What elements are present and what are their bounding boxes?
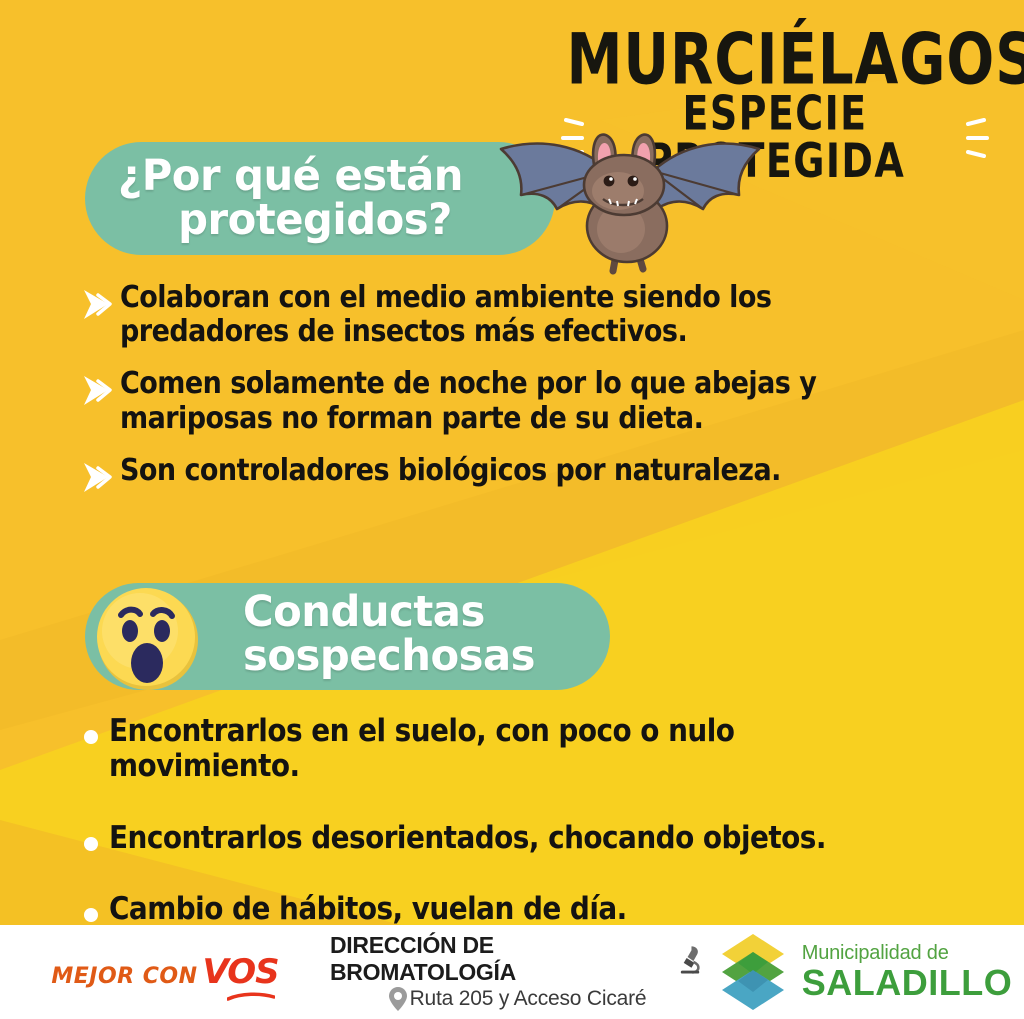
dot-bullet-icon <box>84 837 98 851</box>
chevron-arrow-icon <box>78 458 120 498</box>
mejor-con-vos-logo-icon: MEJOR CONVOS <box>51 952 278 992</box>
mejor-con-vos-accent: VOS <box>203 952 279 992</box>
bat-illustration-icon <box>477 119 767 289</box>
mejor-con-vos-prefix: MEJOR CON <box>51 964 197 989</box>
saladillo-line-1: Municipalidad de <box>802 943 1012 963</box>
footer-bar: MEJOR CONVOS DIRECCIÓN DE BROMATOLOGÍA <box>0 925 1024 1019</box>
dot-bullet-icon <box>84 730 98 744</box>
footer-center: DIRECCIÓN DE BROMATOLOGÍA Ruta 205 y Acc… <box>330 925 704 1019</box>
microscope-icon <box>675 942 704 976</box>
section-1-list: Colaboran con el medio ambiente siendo l… <box>78 281 978 498</box>
bromatologia-title-row: DIRECCIÓN DE BROMATOLOGÍA <box>330 932 704 986</box>
list-item-label: Encontrarlos desorientados, chocando obj… <box>109 821 826 856</box>
surprised-face-emoji-icon <box>93 584 201 692</box>
bromatologia-address-row: Ruta 205 y Acceso Cicaré <box>388 986 647 1012</box>
section-1-pill-line-2: protegidos? <box>178 199 463 243</box>
section-2-pill-line-2: sospechosas <box>243 635 535 679</box>
rays-right-icon <box>964 115 990 161</box>
poster-canvas: MURCIÉLAGOS ESPECIE PROTEGIDA <box>0 0 1024 1019</box>
location-pin-icon <box>388 986 408 1012</box>
list-item-label: Comen solamente de noche por lo que abej… <box>120 367 816 435</box>
footer-right: Municipalidad de SALADILLO <box>704 925 1024 1019</box>
list-item: Colaboran con el medio ambiente siendo l… <box>78 281 978 349</box>
list-item-label: Colaboran con el medio ambiente siendo l… <box>120 281 771 349</box>
saladillo-mark-icon <box>716 932 790 1012</box>
list-item: Encontrarlos en el suelo, con poco o nul… <box>78 714 1008 785</box>
list-item-label: Encontrarlos en el suelo, con poco o nul… <box>109 714 918 785</box>
list-item: Son controladores biológicos por natural… <box>78 454 978 498</box>
dot-bullet-icon <box>84 908 98 922</box>
list-item: Comen solamente de noche por lo que abej… <box>78 367 978 435</box>
poster-title: MURCIÉLAGOS <box>566 26 983 93</box>
section-2-pill-text: Conductas sospechosas <box>243 591 535 679</box>
list-item: Encontrarlos desorientados, chocando obj… <box>78 821 1008 856</box>
chevron-arrow-icon <box>78 285 120 325</box>
list-item: Cambio de hábitos, vuelan de día. <box>78 892 1008 927</box>
saladillo-wordmark: Municipalidad de SALADILLO <box>802 943 1012 1001</box>
saladillo-line-2: SALADILLO <box>802 965 1012 1001</box>
bromatologia-title: DIRECCIÓN DE BROMATOLOGÍA <box>330 932 675 986</box>
saladillo-diamonds-logo-icon: Municipalidad de SALADILLO <box>716 932 1012 1012</box>
section-1-pill-line-1: ¿Por qué están <box>118 151 463 201</box>
footer-left: MEJOR CONVOS <box>0 925 330 1019</box>
chevron-arrow-icon <box>78 371 120 411</box>
bromatologia-address: Ruta 205 y Acceso Cicaré <box>410 987 647 1011</box>
list-item-label: Son controladores biológicos por natural… <box>120 454 781 488</box>
list-item-label: Cambio de hábitos, vuelan de día. <box>109 892 627 927</box>
section-1-pill-text: ¿Por qué están protegidos? <box>118 155 463 243</box>
swoosh-icon <box>227 992 275 1001</box>
section-2-pill-line-1: Conductas <box>243 587 485 637</box>
